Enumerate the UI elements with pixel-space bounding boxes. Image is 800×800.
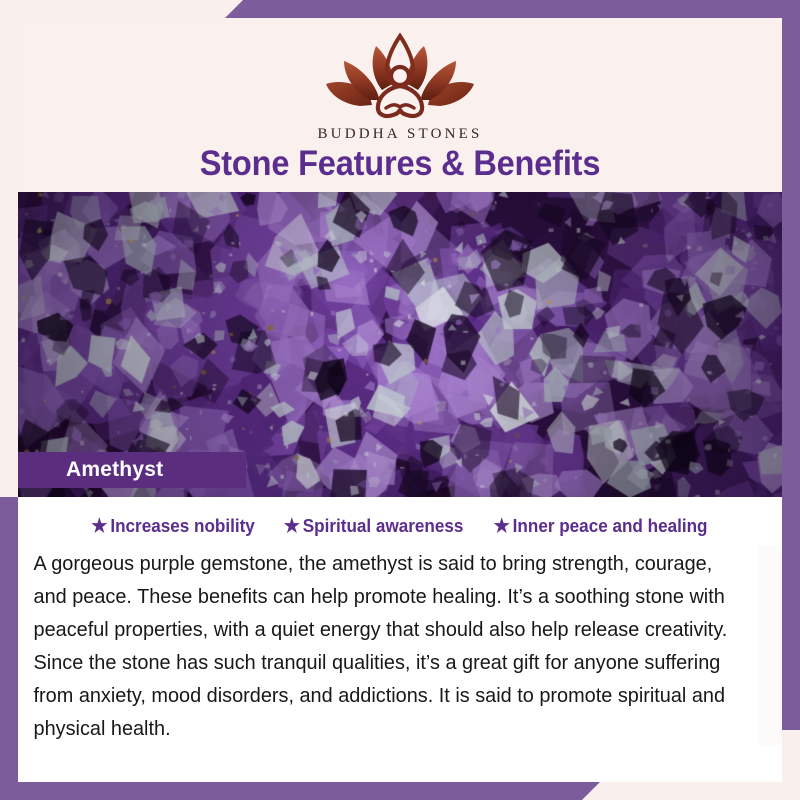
stone-name-banner: Amethyst (18, 452, 246, 488)
frame-band-bottom (0, 782, 600, 800)
stone-name-label: Amethyst (18, 458, 163, 482)
brand-name: BUDDHA STONES (18, 126, 782, 143)
benefit-label: Increases nobility (110, 516, 254, 537)
benefit-label: Spiritual awareness (303, 516, 464, 537)
benefit-item: ★ Spiritual awareness (284, 516, 464, 537)
benefit-label: Inner peace and healing (513, 516, 708, 537)
star-icon: ★ (494, 517, 510, 536)
benefit-item: ★ Increases nobility (91, 516, 255, 537)
poster-root: BUDDHA STONES Stone Features & Benefits … (0, 0, 800, 800)
frame-band-top (225, 0, 800, 18)
star-icon: ★ (91, 517, 107, 536)
lotus-meditation-icon (316, 28, 484, 124)
description-text: A gorgeous purple gemstone, the amethyst… (18, 545, 759, 745)
page-title: Stone Features & Benefits (45, 144, 756, 184)
frame-band-right (782, 0, 800, 730)
benefits-row: ★ Increases nobility ★ Spiritual awarene… (18, 497, 782, 545)
hero-image-section: Amethyst (18, 192, 782, 497)
header-section: BUDDHA STONES Stone Features & Benefits (18, 18, 782, 192)
brand-logo: BUDDHA STONES (18, 28, 782, 143)
star-icon: ★ (284, 517, 300, 536)
benefit-item: ★ Inner peace and healing (494, 516, 708, 537)
content-card: BUDDHA STONES Stone Features & Benefits … (18, 18, 782, 782)
frame-band-left (0, 497, 18, 800)
card-bottom-filler (18, 745, 782, 782)
